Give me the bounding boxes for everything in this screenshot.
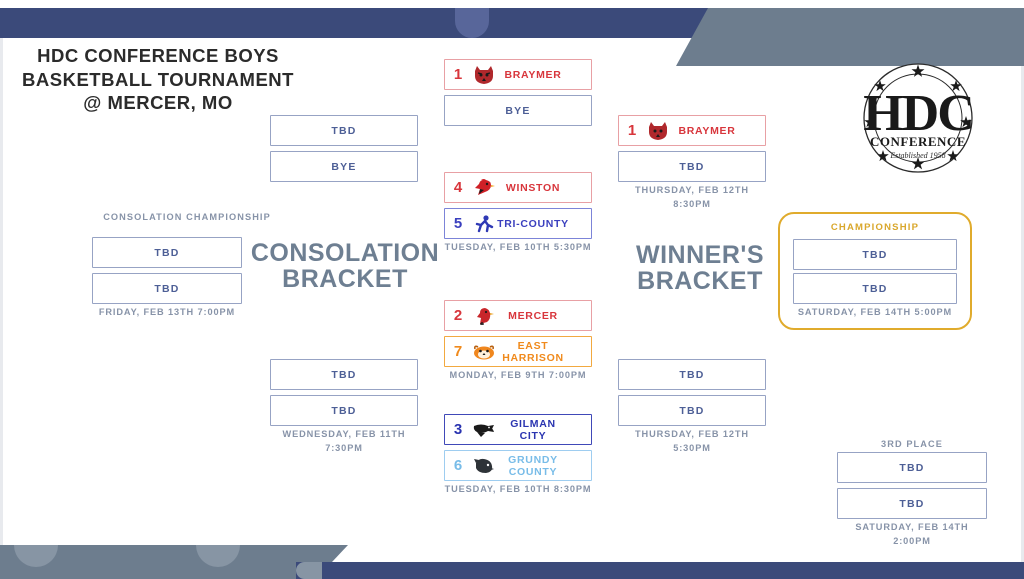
round1-game4-top-slot[interactable]: 3 GILMAN CITY xyxy=(444,414,592,445)
team-name: GILMAN CITY xyxy=(497,418,591,442)
round1-game2-date: TUESDAY, FEB 10TH 5:30PM xyxy=(444,241,592,255)
consolation-game2-top-slot[interactable]: TBD xyxy=(270,359,418,390)
hdc-conference-logo: HDC CONFERENCE Established 1958 xyxy=(862,62,974,174)
round1-game4-date: TUESDAY, FEB 10TH 8:30PM xyxy=(444,483,592,497)
team-name: TBD xyxy=(619,405,765,417)
third-place-label: 3RD PLACE xyxy=(837,438,987,452)
seed-number: 4 xyxy=(445,179,471,196)
round1-game3-bottom-slot[interactable]: 7 EAST HARRISON xyxy=(444,336,592,367)
team-name: TBD xyxy=(619,369,765,381)
winners-bracket-heading: WINNER'S BRACKET xyxy=(612,242,788,295)
panther-logo xyxy=(471,455,497,477)
team-name: BRAYMER xyxy=(497,69,591,81)
team-name: TBD xyxy=(271,125,417,137)
team-name: TBD xyxy=(271,369,417,381)
round1-game1-bottom-slot[interactable]: BYE xyxy=(444,95,592,126)
championship-top-slot[interactable]: TBD xyxy=(793,239,957,270)
seed-number: 5 xyxy=(445,215,471,232)
bobcat-logo xyxy=(471,64,497,86)
team-name: TBD xyxy=(93,283,241,295)
team-name: TBD xyxy=(838,498,986,510)
consolation-final-top-slot[interactable]: TBD xyxy=(92,237,242,268)
bobcat-logo xyxy=(645,120,671,142)
championship-bottom-slot[interactable]: TBD xyxy=(793,273,957,304)
page-title: HDC CONFERENCE BOYS BASKETBALL TOURNAMEN… xyxy=(18,44,298,115)
consolation-final-bottom-slot[interactable]: TBD xyxy=(92,273,242,304)
winners-game2-date: THURSDAY, FEB 12TH 5:30PM xyxy=(618,428,766,456)
team-name: BYE xyxy=(445,105,591,117)
round1-game3-top-slot[interactable]: 2 MERCER xyxy=(444,300,592,331)
seed-number: 2 xyxy=(445,307,471,324)
team-name: TBD xyxy=(794,249,956,261)
left-edge-strip xyxy=(0,38,3,558)
seed-number: 3 xyxy=(445,421,471,438)
third-place-bottom-slot[interactable]: TBD xyxy=(837,488,987,519)
cardinal-logo xyxy=(471,177,497,199)
consolation-bracket-heading: CONSOLATION BRACKET xyxy=(250,240,440,293)
top-gray-shape xyxy=(676,8,1024,66)
round1-game1-top-slot[interactable]: 1 BRAYMER xyxy=(444,59,592,90)
seed-number: 1 xyxy=(445,66,471,83)
winners-game2-top-slot[interactable]: TBD xyxy=(618,359,766,390)
round1-game4-bottom-slot[interactable]: 6 GRUNDY COUNTY xyxy=(444,450,592,481)
seed-number: 1 xyxy=(619,122,645,139)
consolation-final-date: FRIDAY, FEB 13TH 7:00PM xyxy=(92,306,242,320)
consolation-game1-top-slot[interactable]: TBD xyxy=(270,115,418,146)
runner-logo xyxy=(471,213,497,235)
winners-game2-bottom-slot[interactable]: TBD xyxy=(618,395,766,426)
third-place-date: SATURDAY, FEB 14TH 2:00PM xyxy=(837,521,987,549)
team-name: TBD xyxy=(619,161,765,173)
consolation-game2-date: WEDNESDAY, FEB 11TH 7:30PM xyxy=(270,428,418,456)
seed-number: 7 xyxy=(445,343,471,360)
consolation-game2-bottom-slot[interactable]: TBD xyxy=(270,395,418,426)
team-name: EAST HARRISON xyxy=(497,340,591,364)
championship-label: CHAMPIONSHIP xyxy=(778,222,972,233)
svg-text:Established 1958: Established 1958 xyxy=(889,151,945,160)
round1-game2-bottom-slot[interactable]: 5 TRI-COUNTY xyxy=(444,208,592,239)
winners-game1-bottom-slot[interactable]: TBD xyxy=(618,151,766,182)
bulldog-logo xyxy=(471,341,497,363)
winners-game1-date: THURSDAY, FEB 12TH 8:30PM xyxy=(618,184,766,212)
team-name: WINSTON xyxy=(497,182,591,194)
team-name: BYE xyxy=(271,161,417,173)
consolation-championship-label: CONSOLATION CHAMPIONSHIP xyxy=(92,211,282,225)
team-name: GRUNDY COUNTY xyxy=(497,454,591,478)
team-name: TBD xyxy=(838,462,986,474)
svg-text:CONFERENCE: CONFERENCE xyxy=(870,134,966,149)
team-name: TRI-COUNTY xyxy=(497,218,591,230)
hawk-logo xyxy=(471,419,497,441)
championship-date: SATURDAY, FEB 14TH 5:00PM xyxy=(778,306,972,320)
team-name: BRAYMER xyxy=(671,125,765,137)
seed-number: 6 xyxy=(445,457,471,474)
team-name: MERCER xyxy=(497,310,591,322)
team-name: TBD xyxy=(271,405,417,417)
team-name: TBD xyxy=(794,283,956,295)
bottom-navy-accent xyxy=(296,562,322,579)
round1-game2-top-slot[interactable]: 4 WINSTON xyxy=(444,172,592,203)
team-name: TBD xyxy=(93,247,241,259)
winners-game1-top-slot[interactable]: 1 BRAYMER xyxy=(618,115,766,146)
third-place-top-slot[interactable]: TBD xyxy=(837,452,987,483)
cardinal-logo xyxy=(471,305,497,327)
consolation-game1-bottom-slot[interactable]: BYE xyxy=(270,151,418,182)
bottom-navy-bar xyxy=(296,562,1024,579)
round1-game3-date: MONDAY, FEB 9TH 7:00PM xyxy=(444,369,592,383)
